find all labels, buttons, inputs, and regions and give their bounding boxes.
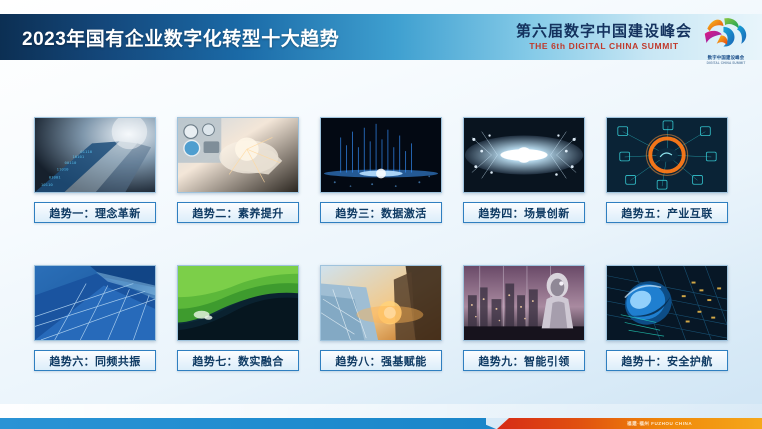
trend-card[interactable]: 趋势四：场景创新 — [463, 117, 585, 223]
glowing-network-burst-image — [463, 117, 585, 193]
trend-card-label: 趋势二：素养提升 — [177, 202, 299, 223]
page-header: 2023年国有企业数字化转型十大趋势 第六届数字中国建设峰会 THE 6th D… — [0, 14, 762, 60]
trend-card[interactable]: 趋势十：安全护航 — [606, 265, 728, 371]
trend-card[interactable]: 趋势八：强基赋能 — [320, 265, 442, 371]
svg-text:01110: 01110 — [80, 149, 92, 154]
robot-overlooking-city-image — [463, 265, 585, 341]
trend-card-label: 趋势四：场景创新 — [463, 202, 585, 223]
summit-text-block: 第六届数字中国建设峰会 THE 6th DIGITAL CHINA SUMMIT — [516, 24, 692, 51]
trend-card[interactable]: 趋势五：产业互联 — [606, 117, 728, 223]
trend-row-1: 1011001001 1101000110 1010101110 趋势一：理念革… — [0, 117, 762, 223]
trend-card[interactable]: 趋势三：数据激活 — [320, 117, 442, 223]
footer-blue-bar — [0, 418, 486, 429]
summit-title-en: THE 6th DIGITAL CHINA SUMMIT — [529, 42, 678, 51]
trend-card[interactable]: 趋势七：数实融合 — [177, 265, 299, 371]
blue-data-waveform-spikes-image — [320, 117, 442, 193]
trend-card-label: 趋势七：数实融合 — [177, 350, 299, 371]
solar-panel-array-image — [34, 265, 156, 341]
footer-location-text: 福建·福州 FUZHOU CHINA — [627, 421, 692, 427]
trend-card[interactable]: 趋势六：同频共振 — [34, 265, 156, 371]
trend-card-label: 趋势一：理念革新 — [34, 202, 156, 223]
digital-china-summit-logo-icon: 数字中国建设峰会 DIGITAL CHINA SUMMIT — [700, 15, 752, 59]
trend-card[interactable]: 趋势二：素养提升 — [177, 117, 299, 223]
trend-card-label: 趋势九：智能引领 — [463, 350, 585, 371]
trend-card[interactable]: 1011001001 1101000110 1010101110 趋势一：理念革… — [34, 117, 156, 223]
trend-card-label: 趋势五：产业互联 — [606, 202, 728, 223]
binary-data-keyboard-perspective-image: 1011001001 1101000110 1010101110 — [34, 117, 156, 193]
summit-branding: 第六届数字中国建设峰会 THE 6th DIGITAL CHINA SUMMIT — [516, 15, 752, 59]
summit-title-cn: 第六届数字中国建设峰会 — [516, 24, 692, 39]
trend-card[interactable]: 趋势九：智能引领 — [463, 265, 585, 371]
solar-panel-sunset-city-image — [320, 265, 442, 341]
svg-text:10101: 10101 — [72, 154, 84, 159]
blue-shield-circuit-globe-image — [606, 265, 728, 341]
svg-text:11010: 11010 — [57, 167, 69, 172]
robotic-hand-instrument-panel-image — [177, 117, 299, 193]
footer-sheen — [0, 404, 762, 418]
green-forest-river-aerial-image — [177, 265, 299, 341]
trend-card-label: 趋势十：安全护航 — [606, 350, 728, 371]
footer-orange-bar: 福建·福州 FUZHOU CHINA — [497, 418, 762, 429]
page-footer: 福建·福州 FUZHOU CHINA — [0, 411, 762, 429]
svg-text:01001: 01001 — [49, 174, 61, 179]
trend-row-2: 趋势六：同频共振 趋势七：数实融合 — [0, 265, 762, 371]
trend-card-label: 趋势八：强基赋能 — [320, 350, 442, 371]
svg-text:00110: 00110 — [65, 160, 77, 165]
trend-card-grid: 1011001001 1101000110 1010101110 趋势一：理念革… — [0, 60, 762, 390]
trend-card-label: 趋势六：同频共振 — [34, 350, 156, 371]
trend-card-label: 趋势三：数据激活 — [320, 202, 442, 223]
orange-ring-iot-network-image — [606, 117, 728, 193]
svg-text:10110: 10110 — [41, 182, 53, 187]
page-title: 2023年国有企业数字化转型十大趋势 — [22, 24, 339, 51]
